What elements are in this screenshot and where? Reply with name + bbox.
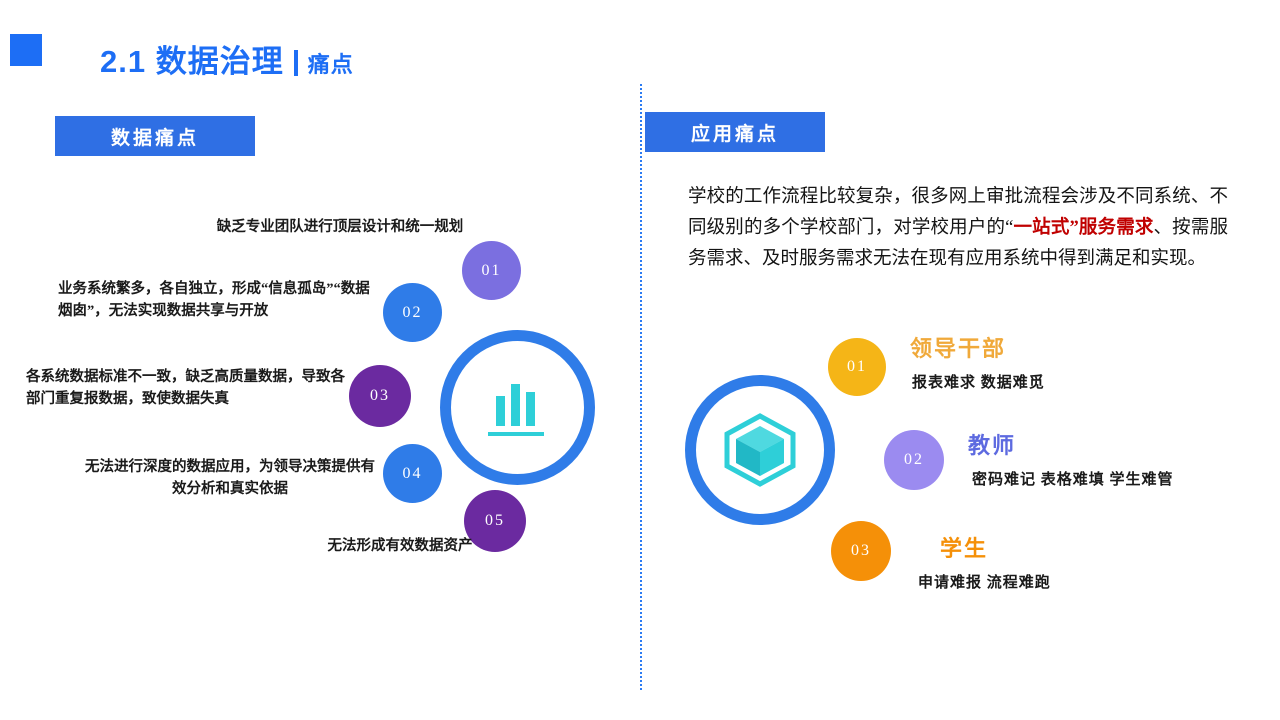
right-paragraph: 学校的工作流程比较复杂，很多网上审批流程会涉及不同系统、不同级别的多个学校部门，… — [688, 182, 1228, 275]
left-bubble-05-number: 05 — [485, 512, 505, 530]
role-desc-02: 密码难记 表格难填 学生难管 — [972, 468, 1174, 489]
role-desc-03: 申请难报 流程难跑 — [918, 571, 1051, 592]
left-bubble-03-number: 03 — [370, 387, 390, 405]
title-separator-bar — [294, 50, 298, 76]
left-bubble-01: 01 — [462, 241, 521, 300]
left-bubble-04: 04 — [383, 444, 442, 503]
role-title-02: 教师 — [968, 428, 1016, 460]
role-desc-01: 报表难求 数据难觅 — [912, 371, 1045, 392]
role-circle-01: 01 — [828, 338, 886, 396]
left-bubble-04-number: 04 — [403, 465, 423, 483]
left-bubble-02-number: 02 — [403, 304, 423, 322]
left-bubble-01-number: 01 — [482, 262, 502, 280]
left-bubble-02: 02 — [383, 283, 442, 342]
left-item-04-text: 无法进行深度的数据应用，为领导决策提供有效分析和真实依据 — [80, 456, 380, 500]
slide-root: 2.1 数据治理痛点 数据痛点 应用痛点 01 02 03 04 05 缺乏专业… — [0, 0, 1280, 720]
cube-icon — [723, 412, 797, 488]
page-title-text: 2.1 数据治理 — [100, 44, 284, 79]
role-circle-02-number: 02 — [904, 451, 924, 469]
left-item-02-text: 业务系统繁多，各自独立，形成“信息孤岛”“数据烟囱”，无法实现数据共享与开放 — [58, 278, 378, 322]
section-tab-app-pain: 应用痛点 — [645, 112, 825, 152]
section-tab-data-pain: 数据痛点 — [55, 116, 255, 156]
page-title: 2.1 数据治理痛点 — [100, 36, 354, 81]
role-circle-01-number: 01 — [847, 358, 867, 376]
page-subtitle: 痛点 — [308, 52, 354, 77]
role-circle-02: 02 — [884, 430, 944, 490]
role-title-01: 领导干部 — [910, 331, 1006, 363]
left-bubble-03: 03 — [349, 365, 411, 427]
vertical-dotted-divider — [640, 84, 642, 690]
bar-chart-icon — [470, 360, 565, 455]
role-circle-03: 03 — [831, 521, 891, 581]
left-item-01-text: 缺乏专业团队进行顶层设计和统一规划 — [190, 216, 490, 238]
left-item-05-text: 无法形成有效数据资产 — [270, 535, 530, 557]
right-paragraph-highlight: 一站式”服务需求 — [1013, 218, 1153, 238]
left-item-03-text: 各系统数据标准不一致，缺乏高质量数据，导致各部门重复报数据，致使数据失真 — [26, 366, 346, 410]
role-circle-03-number: 03 — [851, 542, 871, 560]
role-title-03: 学生 — [940, 531, 988, 563]
header-accent-square — [10, 34, 42, 66]
